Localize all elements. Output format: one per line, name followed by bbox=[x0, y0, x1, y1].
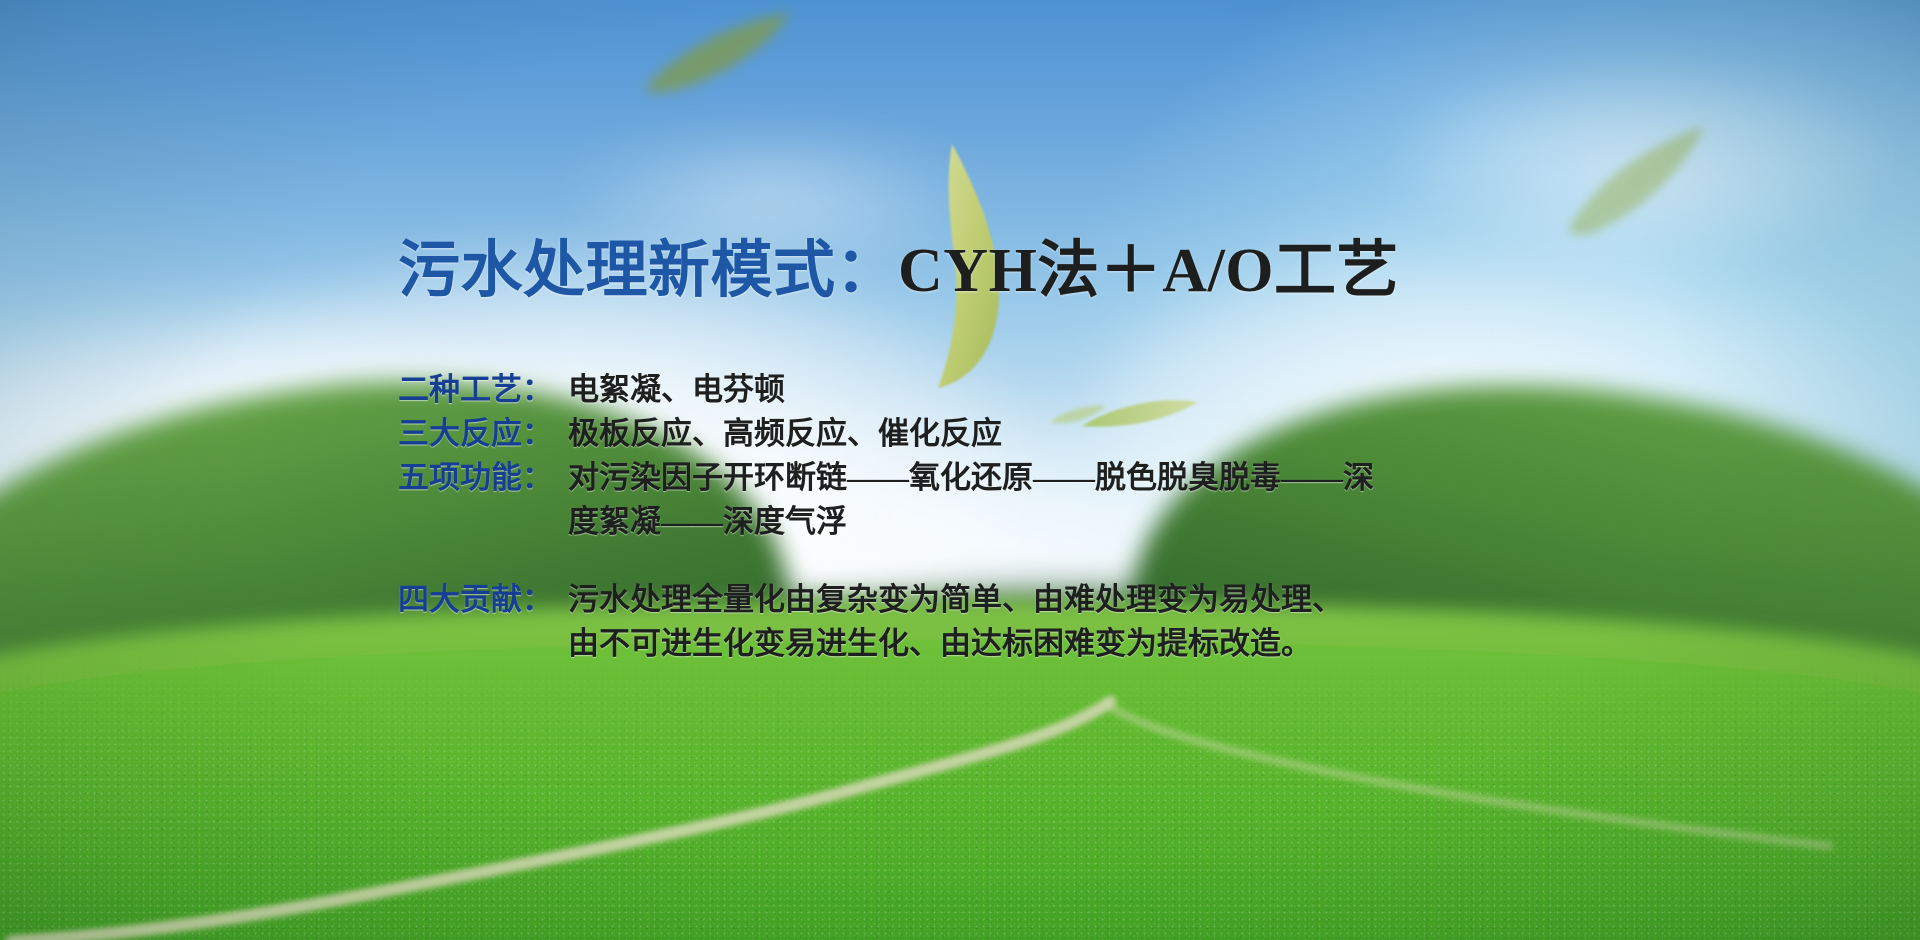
bullet-text-contributions: 污水处理全量化由复杂变为简单、由难处理变为易处理、 由不可进生化变易进生化、由达… bbox=[568, 578, 1343, 666]
bullet-row-contributions: 四大贡献： 污水处理全量化由复杂变为简单、由难处理变为易处理、 由不可进生化变易… bbox=[398, 578, 1518, 666]
bullet-text-reactions: 极板反应、高频反应、催化反应 bbox=[568, 412, 1518, 456]
slide-root: 污水处理新模式：CYH法＋A/O工艺 二种工艺： 电絮凝、电芬顿 三大反应： 极… bbox=[0, 0, 1920, 940]
bullet-label-processes: 二种工艺： bbox=[398, 368, 568, 412]
bullet-label-functions: 五项功能： bbox=[398, 456, 568, 500]
bullet-row-reactions: 三大反应： 极板反应、高频反应、催化反应 bbox=[398, 412, 1518, 456]
bullet-text-functions-line-2: 度絮凝——深度气浮 bbox=[568, 500, 1374, 544]
bullet-text-functions-line-1: 对污染因子开环断链——氧化还原——脱色脱臭脱毒——深 bbox=[568, 456, 1374, 500]
page-title: 污水处理新模式：CYH法＋A/O工艺 bbox=[398, 238, 1399, 305]
bullet-label-contributions: 四大贡献： bbox=[398, 578, 568, 622]
bullet-text-processes: 电絮凝、电芬顿 bbox=[568, 368, 1518, 412]
page-title-blue-part: 污水处理新模式： bbox=[398, 237, 898, 305]
bullet-label-reactions: 三大反应： bbox=[398, 412, 568, 456]
page-title-dark-part: CYH法＋A/O工艺 bbox=[898, 237, 1399, 305]
bullet-text-functions: 对污染因子开环断链——氧化还原——脱色脱臭脱毒——深 度絮凝——深度气浮 bbox=[568, 456, 1374, 544]
bullet-list: 二种工艺： 电絮凝、电芬顿 三大反应： 极板反应、高频反应、催化反应 五项功能：… bbox=[398, 368, 1518, 666]
bullet-text-contributions-line-1: 污水处理全量化由复杂变为简单、由难处理变为易处理、 bbox=[568, 578, 1343, 622]
bullet-row-functions: 五项功能： 对污染因子开环断链——氧化还原——脱色脱臭脱毒——深 度絮凝——深度… bbox=[398, 456, 1518, 544]
text-content: 污水处理新模式：CYH法＋A/O工艺 二种工艺： 电絮凝、电芬顿 三大反应： 极… bbox=[0, 0, 1920, 940]
bullet-text-contributions-line-2: 由不可进生化变易进生化、由达标困难变为提标改造。 bbox=[568, 622, 1343, 666]
bullet-row-processes: 二种工艺： 电絮凝、电芬顿 bbox=[398, 368, 1518, 412]
